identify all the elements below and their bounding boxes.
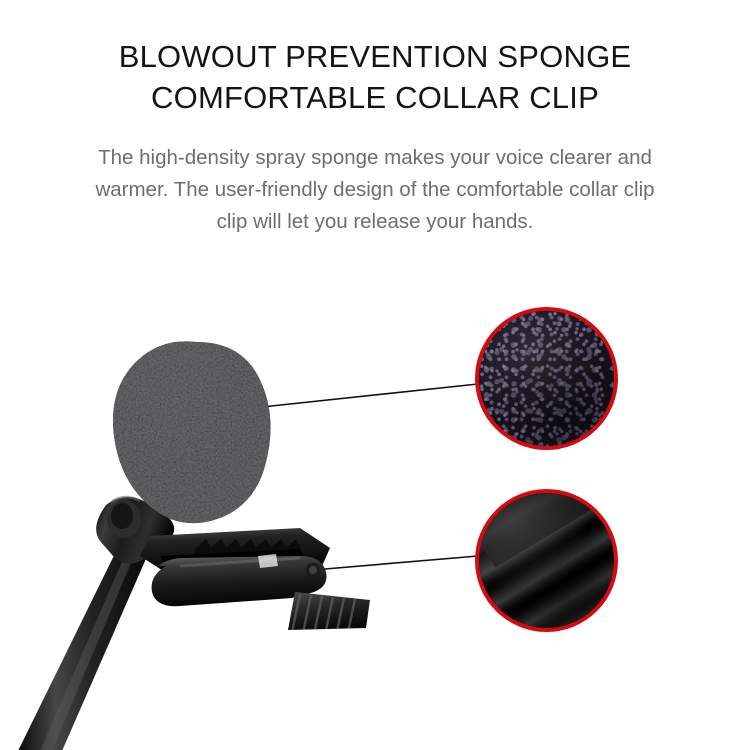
callout-sponge-texture	[475, 307, 618, 450]
leader-line-clip	[313, 556, 478, 570]
product-photo-microphone	[0, 0, 750, 750]
collar-clip	[140, 528, 370, 637]
leader-line-sponge	[262, 384, 478, 407]
clip-grip-fill	[479, 493, 614, 628]
product-feature-banner: BLOWOUT PREVENTION SPONGE COMFORTABLE CO…	[0, 0, 750, 750]
callout-clip-grip	[475, 489, 618, 632]
sponge-texture-fill	[479, 311, 614, 446]
foam-windscreen	[113, 341, 271, 523]
